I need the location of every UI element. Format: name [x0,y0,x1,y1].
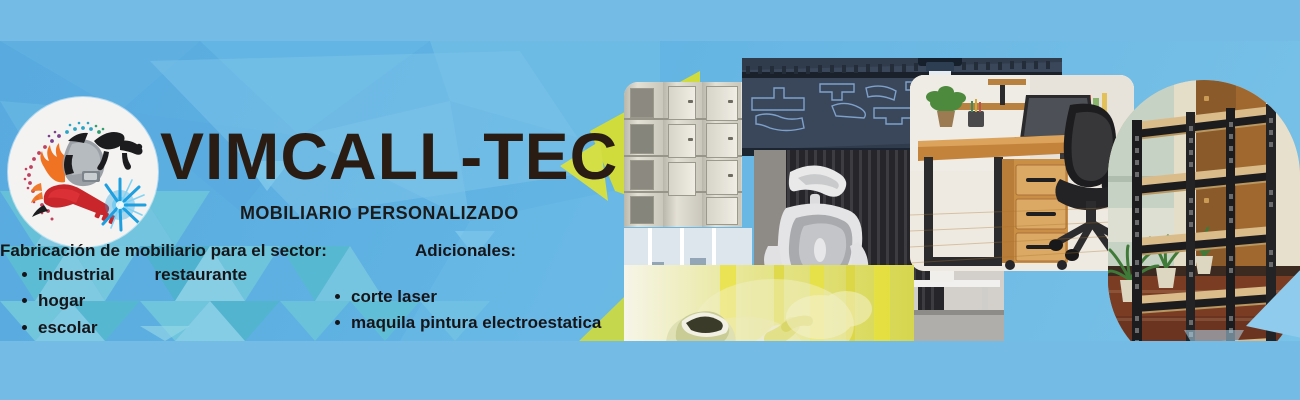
vimcall-tec-banner: VIMCALL-TEC MOBILIARIO PERSONALIZADO Fab… [0,0,1300,400]
welding-torch-icon [32,184,116,225]
extras-heading: Adicionales: [415,241,516,261]
office-desk-scene [910,75,1134,271]
sector-label: industrial [38,265,115,284]
photo-collage [624,58,1300,341]
extras-list: corte laser maquila pintura electroestat… [325,284,622,341]
powder-coating-scene [624,265,914,341]
list-item: soldadura TIG,MIG, Microalambre [325,337,622,341]
photo-office-desk [910,75,1134,271]
photo-lockers [624,82,742,227]
photo-powder-coating [624,265,914,341]
tagline: MOBILIARIO PERSONALIZADO [240,203,519,224]
logo-artwork [8,97,158,247]
blue-triangle-accent [1184,268,1300,341]
banner-panel: VIMCALL-TEC MOBILIARIO PERSONALIZADO Fab… [0,41,1300,341]
sector-label-secondary: restaurante [155,265,248,284]
list-item: corte laser [325,284,622,310]
page-title: VIMCALL-TEC [160,123,618,189]
spray-gun-icon [94,132,143,170]
list-item: industrialrestaurante [12,262,247,288]
sectors-list: industrialrestaurante hogar escolar ofic… [12,262,247,341]
vimcall-tec-logo [8,97,158,247]
list-item: maquila pintura electroestatica [325,310,622,336]
list-item: hogar [12,288,247,314]
sectors-heading: Fabricación de mobiliario para el sector… [0,241,327,261]
list-item: escolar [12,315,247,341]
